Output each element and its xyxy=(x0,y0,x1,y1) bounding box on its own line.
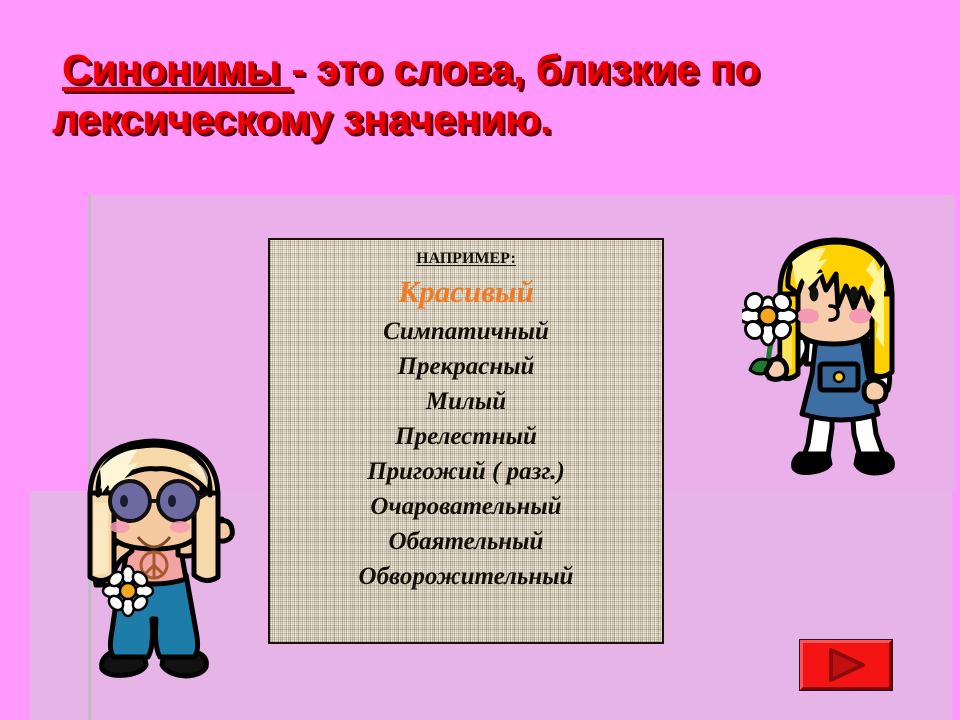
wordbox-heading: НАПРИМЕР: xyxy=(270,248,662,270)
page-title: Синонимы - это слова, близкие по лексиче… xyxy=(52,44,932,144)
play-triangle-icon xyxy=(826,648,866,682)
synonym-item: Пригожий ( разг.) xyxy=(270,454,662,489)
title-line-1-rest: - это слова, близкие по xyxy=(292,46,760,92)
synonym-item: Симпатичный xyxy=(270,314,662,349)
girl-with-daisy-illustration xyxy=(742,228,942,478)
slide-root: Синонимы - это слова, близкие по лексиче… xyxy=(0,0,960,720)
title-line-2: лексическому значению. xyxy=(52,94,932,144)
synonym-item: Обаятельный xyxy=(270,524,662,559)
next-slide-button[interactable] xyxy=(800,640,892,690)
synonym-item: Обворожительный xyxy=(270,559,662,594)
synonym-item: Милый xyxy=(270,384,662,419)
wordbox-headword: Красивый xyxy=(270,272,662,312)
synonym-item: Очаровательный xyxy=(270,489,662,524)
hippie-girl-illustration xyxy=(68,425,248,695)
title-line-1: Синонимы - это слова, близкие по xyxy=(52,44,932,94)
synonym-item: Прекрасный xyxy=(270,349,662,384)
example-word-box: НАПРИМЕР: Красивый Симпатичный Прекрасны… xyxy=(268,238,664,644)
title-keyword: Синонимы xyxy=(62,46,292,92)
synonym-item: Прелестный xyxy=(270,419,662,454)
